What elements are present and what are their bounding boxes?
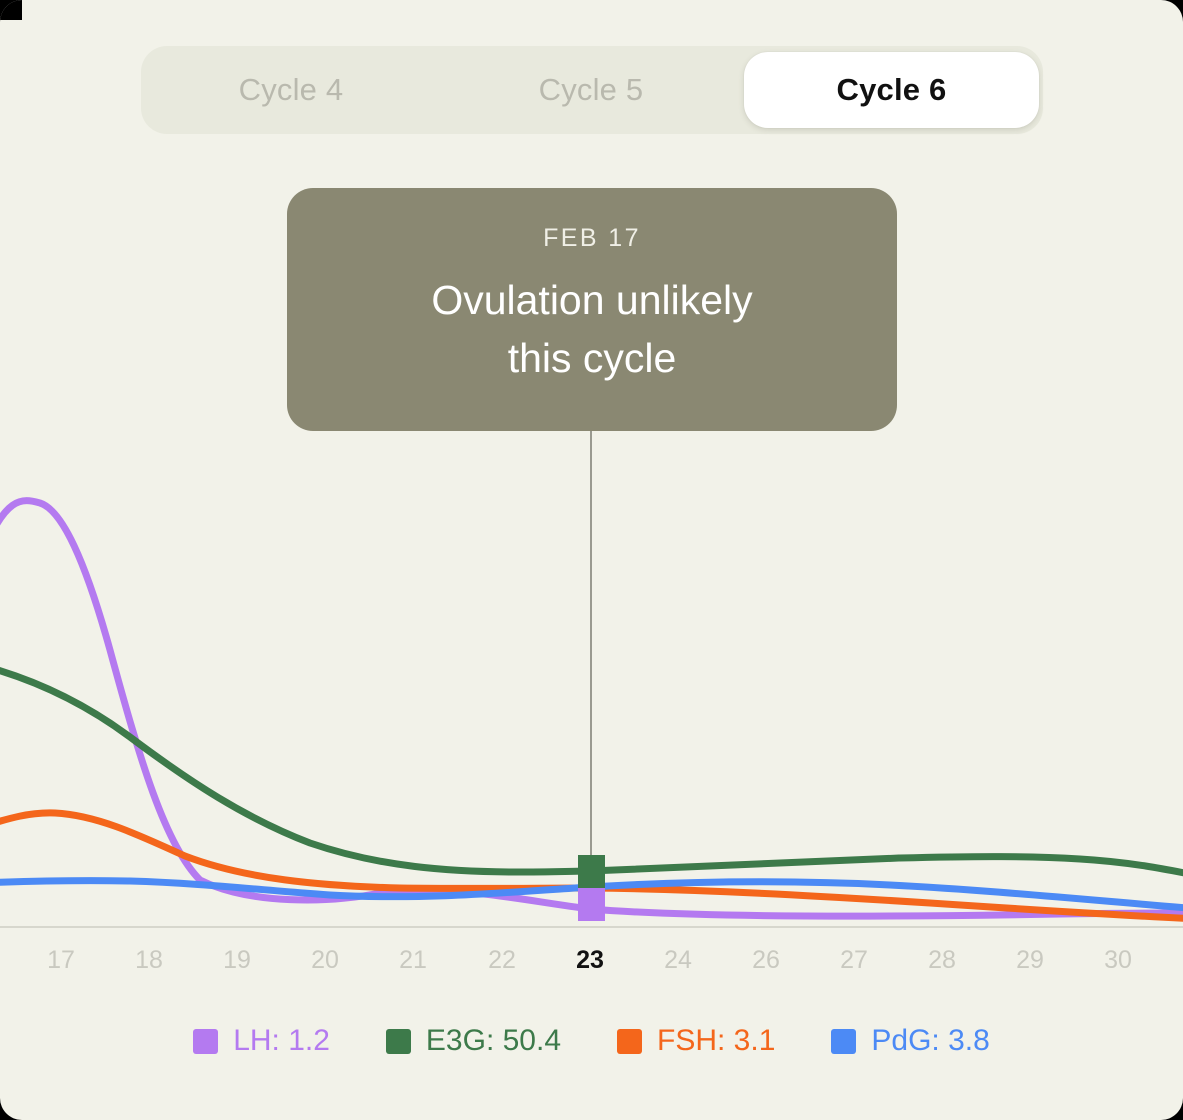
- tab-cycle-6-label: Cycle 6: [837, 72, 947, 108]
- x-tick-18[interactable]: 18: [119, 946, 179, 975]
- x-tick-17[interactable]: 17: [31, 946, 91, 975]
- x-tick-28[interactable]: 28: [912, 946, 972, 975]
- tab-cycle-4[interactable]: Cycle 4: [141, 46, 441, 134]
- selected-day-indicator-line: [590, 431, 592, 861]
- x-tick-24[interactable]: 24: [648, 946, 708, 975]
- tooltip-title: Ovulation unlikely this cycle: [431, 271, 752, 387]
- legend-swatch-lh-icon: [193, 1029, 218, 1054]
- data-point-marker-e3g[interactable]: [578, 855, 605, 888]
- x-tick-23[interactable]: 23: [560, 946, 620, 975]
- x-axis-baseline: [0, 926, 1183, 928]
- legend-label-lh: LH: 1.2: [233, 1024, 330, 1058]
- legend-item-lh[interactable]: LH: 1.2: [193, 1024, 330, 1058]
- tooltip-title-line1: Ovulation unlikely: [431, 277, 752, 323]
- tab-cycle-5[interactable]: Cycle 5: [441, 46, 741, 134]
- legend-item-e3g[interactable]: E3G: 50.4: [386, 1024, 561, 1058]
- x-tick-19[interactable]: 19: [207, 946, 267, 975]
- legend-swatch-fsh-icon: [617, 1029, 642, 1054]
- ovulation-tooltip-card[interactable]: FEB 17 Ovulation unlikely this cycle: [287, 188, 897, 431]
- chart-legend: LH: 1.2E3G: 50.4FSH: 3.1PdG: 3.8: [0, 1018, 1183, 1064]
- x-tick-22[interactable]: 22: [472, 946, 532, 975]
- tab-cycle-4-label: Cycle 4: [239, 72, 344, 108]
- tooltip-date: FEB 17: [543, 224, 641, 253]
- legend-label-e3g: E3G: 50.4: [426, 1024, 561, 1058]
- x-tick-20[interactable]: 20: [295, 946, 355, 975]
- x-tick-26[interactable]: 26: [736, 946, 796, 975]
- tooltip-title-line2: this cycle: [508, 335, 677, 381]
- tab-cycle-6[interactable]: Cycle 6: [744, 52, 1039, 128]
- cycle-tab-bar: Cycle 4 Cycle 5 Cycle 6: [141, 46, 1043, 134]
- cycle-chart-screen: Cycle 4 Cycle 5 Cycle 6 FEB 17 Ovulation…: [0, 0, 1183, 1120]
- data-point-marker-lh[interactable]: [578, 888, 605, 921]
- tab-cycle-5-label: Cycle 5: [539, 72, 644, 108]
- legend-swatch-e3g-icon: [386, 1029, 411, 1054]
- x-tick-27[interactable]: 27: [824, 946, 884, 975]
- x-tick-30[interactable]: 30: [1088, 946, 1148, 975]
- legend-label-fsh: FSH: 3.1: [657, 1024, 775, 1058]
- x-tick-21[interactable]: 21: [383, 946, 443, 975]
- corner-artifact: [0, 0, 22, 20]
- legend-label-pdg: PdG: 3.8: [871, 1024, 989, 1058]
- x-tick-29[interactable]: 29: [1000, 946, 1060, 975]
- legend-item-pdg[interactable]: PdG: 3.8: [831, 1024, 989, 1058]
- x-axis-labels: 17181920212223242627282930: [0, 946, 1183, 982]
- legend-item-fsh[interactable]: FSH: 3.1: [617, 1024, 775, 1058]
- legend-swatch-pdg-icon: [831, 1029, 856, 1054]
